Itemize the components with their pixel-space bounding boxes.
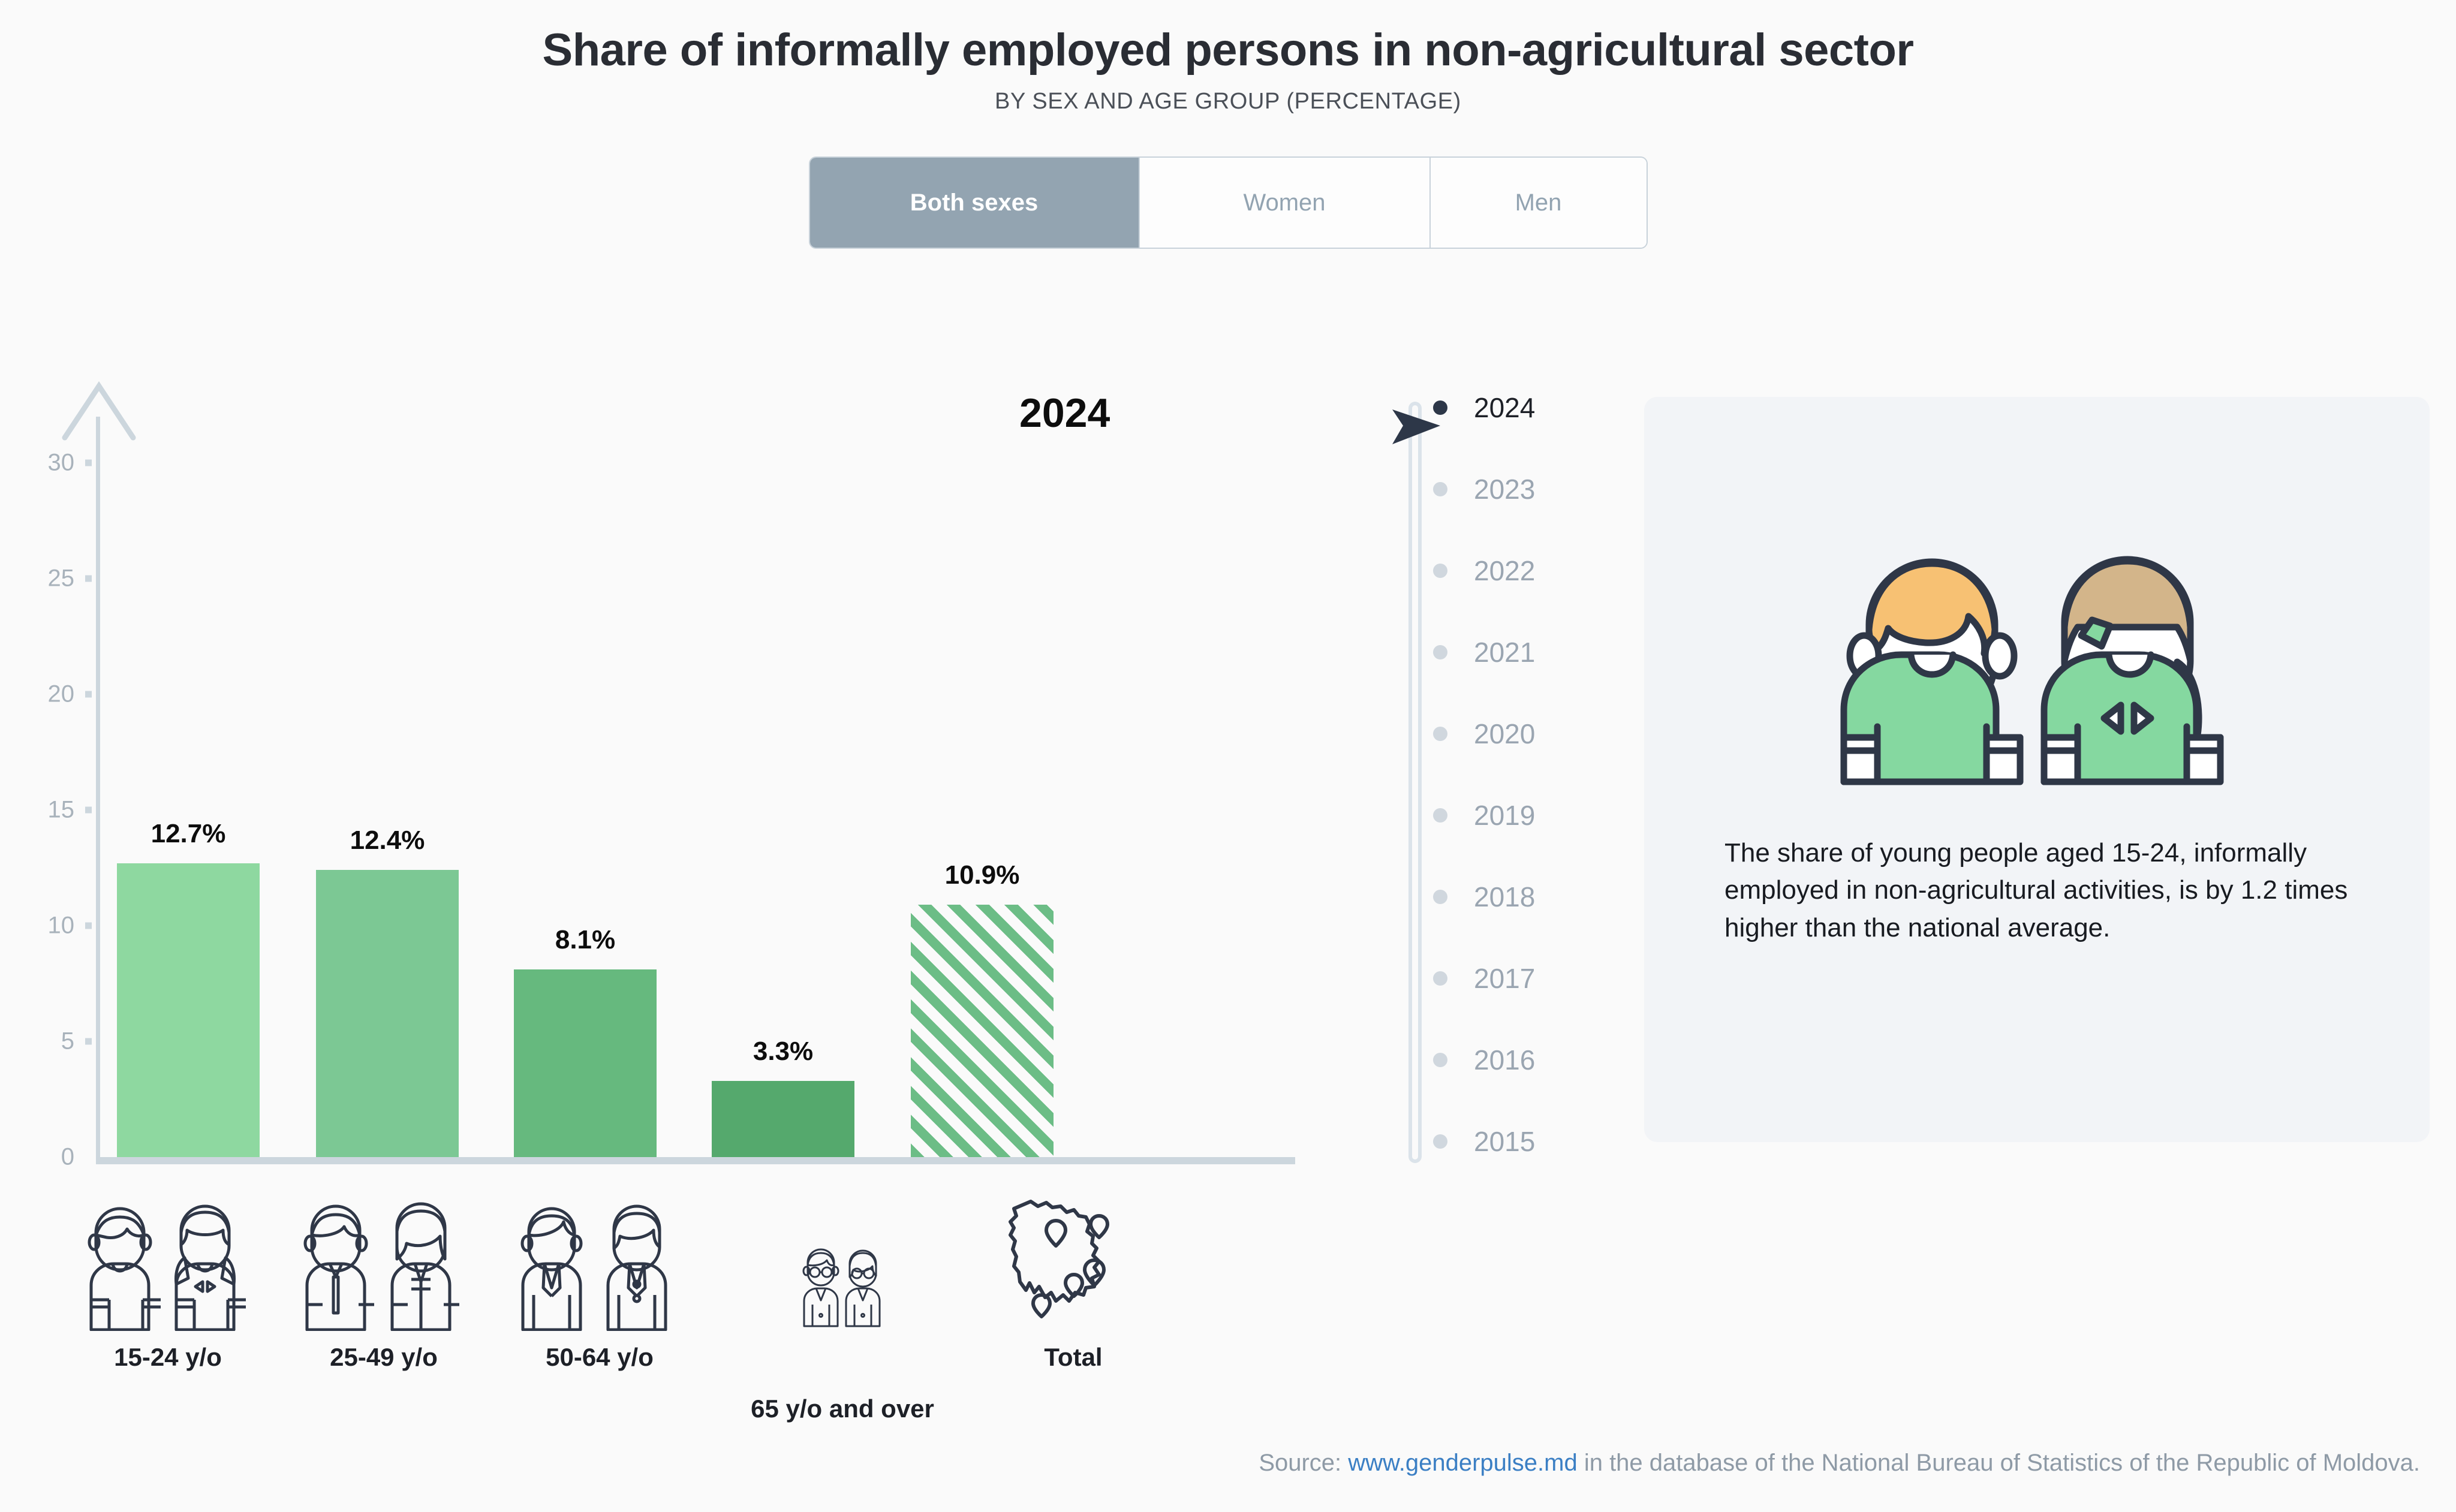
year-dot-2016 [1433, 1053, 1447, 1067]
source-footnote: Source: www.genderpulse.md in the databa… [0, 1450, 2420, 1477]
year-slider-track-inner [1412, 405, 1418, 1159]
info-panel-text: The share of young people aged 15-24, in… [1724, 835, 2382, 947]
mature-couple-icon [510, 1193, 690, 1331]
year-label-2019: 2019 [1474, 799, 1535, 832]
info-panel: The share of young people aged 15-24, in… [1644, 397, 2430, 1142]
bar-value-65-and-over: 3.3% [712, 1037, 854, 1067]
year-label-2023: 2023 [1474, 473, 1535, 505]
header: Share of informally employed persons in … [0, 0, 2456, 115]
y-tick-10: 10 [0, 912, 96, 939]
y-tick-5: 5 [0, 1028, 96, 1055]
year-option-2018[interactable]: 2018 [1433, 879, 1535, 915]
year-option-2015[interactable]: 2015 [1433, 1124, 1535, 1159]
y-tick-25: 25 [0, 565, 96, 592]
tab-women[interactable]: Women [1140, 158, 1431, 248]
y-tick-15: 15 [0, 797, 96, 824]
y-tick-30: 30 [0, 450, 96, 477]
year-dot-2023 [1433, 482, 1447, 496]
category-total: Total [977, 1193, 1169, 1372]
y-tick-dot-15 [85, 807, 92, 814]
year-label-2022: 2022 [1474, 555, 1535, 587]
year-label-2024: 2024 [1474, 391, 1535, 424]
category-label-50-64: 50-64 y/o [504, 1343, 696, 1372]
year-option-2024[interactable]: 2024 [1433, 390, 1535, 426]
young-couple-icon [78, 1193, 258, 1331]
category-50-64: 50-64 y/o [504, 1193, 696, 1372]
adult-couple-icon [294, 1193, 474, 1331]
category-label-65-and-over: 65 y/o and over [714, 1394, 971, 1423]
year-option-2016[interactable]: 2016 [1433, 1042, 1535, 1078]
year-label-2020: 2020 [1474, 718, 1535, 750]
page-root: Share of informally employed persons in … [0, 0, 2456, 1512]
y-tick-dot-10 [85, 923, 92, 929]
year-label-2016: 2016 [1474, 1044, 1535, 1076]
year-dot-2022 [1433, 564, 1447, 578]
page-title: Share of informally employed persons in … [0, 25, 2456, 76]
year-option-2022[interactable]: 2022 [1433, 553, 1535, 589]
bar-15-24[interactable]: 12.7% [117, 863, 260, 1157]
y-tick-dot-30 [85, 460, 92, 466]
y-tick-dot-20 [85, 691, 92, 698]
year-label-2017: 2017 [1474, 962, 1535, 995]
year-dot-2020 [1433, 727, 1447, 741]
y-tick-dot-5 [85, 1038, 92, 1045]
y-tick-0: 0 [0, 1144, 96, 1171]
bar-65-and-over[interactable]: 3.3% [712, 1081, 854, 1157]
bar-50-64[interactable]: 8.1% [514, 969, 657, 1157]
source-suffix: in the database of the National Bureau o… [1578, 1450, 2420, 1476]
bar-value-15-24: 12.7% [117, 819, 260, 849]
bar-value-total: 10.9% [911, 860, 1054, 890]
year-option-2019[interactable]: 2019 [1433, 797, 1535, 833]
moldova-map-icon [1004, 1193, 1142, 1331]
couple-illustration-icon [1827, 487, 2247, 787]
year-dot-2018 [1433, 890, 1447, 904]
bar-total[interactable]: 10.9% [911, 905, 1054, 1157]
category-axis: 15-24 y/o [0, 1193, 1343, 1445]
category-15-24: 15-24 y/o [72, 1193, 264, 1372]
year-dot-2019 [1433, 808, 1447, 823]
tab-men[interactable]: Men [1431, 158, 1647, 248]
y-axis-line [96, 417, 100, 1160]
sex-filter-tabs: Both sexes Women Men [0, 158, 2456, 248]
category-label-total: Total [977, 1343, 1169, 1372]
year-option-2017[interactable]: 2017 [1433, 960, 1535, 996]
category-25-49: 25-49 y/o [288, 1193, 480, 1372]
page-subtitle: BY SEX AND AGE GROUP (PERCENTAGE) [0, 89, 2456, 115]
category-65-and-over: 65 y/o and over [714, 1193, 971, 1423]
year-dot-2024 [1433, 400, 1447, 415]
year-option-2021[interactable]: 2021 [1433, 634, 1535, 670]
source-link[interactable]: www.genderpulse.md [1348, 1450, 1577, 1476]
year-label-2015: 2015 [1474, 1125, 1535, 1158]
elderly-couple-icon [799, 1193, 886, 1383]
y-tick-dot-25 [85, 576, 92, 582]
y-tick-20: 20 [0, 681, 96, 708]
plot-area: 12.7% 12.4% 8.1% 3.3% 10.9% [100, 417, 1295, 1157]
bar-value-25-49: 12.4% [316, 826, 459, 856]
year-dot-2017 [1433, 971, 1447, 986]
bar-value-50-64: 8.1% [514, 925, 657, 955]
category-label-15-24: 15-24 y/o [72, 1343, 264, 1372]
year-selector[interactable]: 2024202320222021202020192018201720162015 [1397, 378, 1613, 1181]
bar-chart: 2024 0 5 10 15 20 25 30 12.7% 12.4% [0, 372, 1343, 1187]
year-dot-2021 [1433, 645, 1447, 659]
year-label-2018: 2018 [1474, 881, 1535, 913]
year-option-2023[interactable]: 2023 [1433, 471, 1535, 507]
year-option-2020[interactable]: 2020 [1433, 716, 1535, 752]
source-prefix: Source: [1259, 1450, 1348, 1476]
year-label-2021: 2021 [1474, 636, 1535, 668]
year-dot-2015 [1433, 1134, 1447, 1149]
tab-both-sexes[interactable]: Both sexes [810, 158, 1140, 248]
category-label-25-49: 25-49 y/o [288, 1343, 480, 1372]
bar-25-49[interactable]: 12.4% [316, 870, 459, 1157]
x-axis-line [96, 1157, 1295, 1164]
